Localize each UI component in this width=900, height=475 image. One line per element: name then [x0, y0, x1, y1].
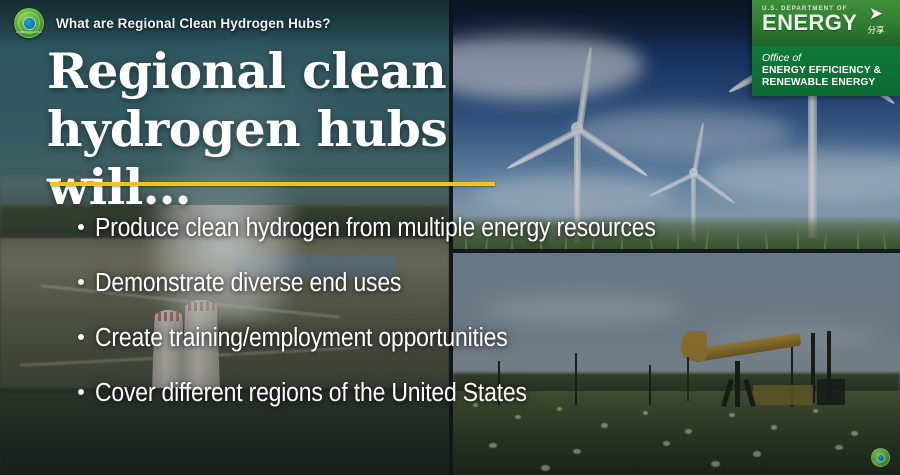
title-underline-rule	[50, 182, 495, 186]
doe-logo-block: U.S. DEPARTMENT OF ENERGY ➤ 分享 Office of…	[752, 0, 900, 96]
title-line-1: Regional clean	[47, 42, 446, 100]
bullet-dot-icon	[78, 279, 84, 285]
share-label: 分享	[858, 24, 894, 36]
bullet-dot-icon	[78, 389, 84, 395]
list-item: Demonstrate diverse end uses	[78, 269, 878, 298]
share-button[interactable]: ➤ 分享	[858, 6, 894, 36]
hydrogen-hub-watermark-icon	[871, 448, 890, 467]
doe-office-line2: RENEWABLE ENERGY	[762, 77, 875, 88]
list-item: Produce clean hydrogen from multiple ene…	[78, 214, 878, 243]
video-title: What are Regional Clean Hydrogen Hubs?	[56, 16, 331, 31]
doe-office-name: ENERGY EFFICIENCY & RENEWABLE ENERGY	[762, 65, 891, 89]
doe-agency-name: ENERGY	[762, 11, 856, 34]
bullet-text: Produce clean hydrogen from multiple ene…	[95, 214, 656, 243]
list-item: Create training/employment opportunities	[78, 324, 878, 353]
video-slide-frame: Regional clean hydrogen hubs will… Produ…	[0, 0, 900, 475]
bullet-dot-icon	[78, 334, 84, 340]
bullet-list: Produce clean hydrogen from multiple ene…	[78, 214, 878, 434]
list-item: Cover different regions of the United St…	[78, 379, 878, 408]
bullet-text: Create training/employment opportunities	[95, 324, 508, 353]
doe-office-band: Office of ENERGY EFFICIENCY & RENEWABLE …	[752, 46, 900, 96]
page-title: Regional clean hydrogen hubs will…	[47, 42, 567, 216]
share-arrow-icon: ➤	[858, 6, 894, 22]
bullet-dot-icon	[78, 224, 84, 230]
hydrogen-hub-logo-icon: HYDROGEN HUBS	[14, 8, 44, 38]
doe-office-prefix: Office of	[762, 52, 891, 64]
title-line-2: hydrogen hubs will…	[47, 100, 447, 216]
bullet-text: Demonstrate diverse end uses	[95, 269, 401, 298]
doe-energy-band: U.S. DEPARTMENT OF ENERGY ➤ 分享	[752, 0, 900, 46]
doe-office-line1: ENERGY EFFICIENCY &	[762, 65, 881, 76]
bullet-text: Cover different regions of the United St…	[95, 379, 527, 408]
